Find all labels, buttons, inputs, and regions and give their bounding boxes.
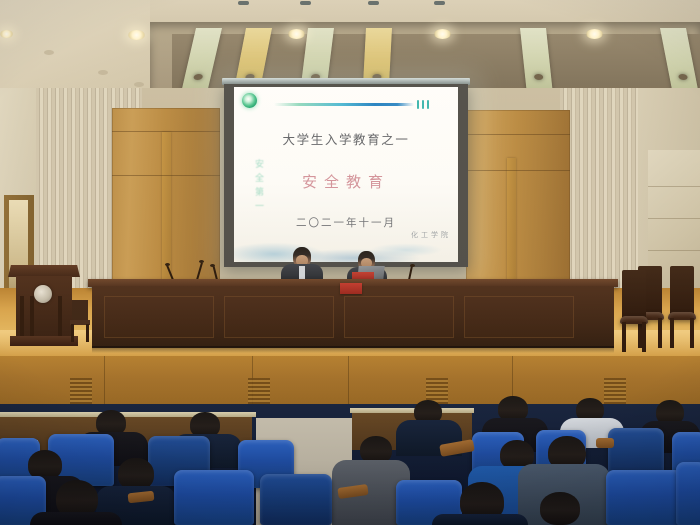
projection-screen: 安全第一 大学生入学教育之一 安全教育 二〇二一年十一月 化工学院 [234, 87, 458, 262]
beam-downlight [678, 74, 688, 80]
wood-wall-panel-right [466, 110, 570, 293]
audience-seat[interactable] [608, 428, 664, 476]
podium-leg [58, 296, 62, 338]
table-front-panel [224, 296, 334, 338]
table-shadow [92, 346, 614, 353]
chair-leg [71, 324, 74, 342]
ceiling-downlight [434, 29, 451, 39]
chair-leg [658, 318, 662, 348]
wood-panel-divider [507, 158, 516, 293]
acoustic-panel-line [648, 218, 700, 219]
ceiling-speaker-grille [44, 50, 54, 55]
audience-seat[interactable] [260, 474, 332, 525]
stage-chair[interactable] [620, 270, 648, 346]
wood-panel-seam [112, 131, 220, 132]
audience-seat[interactable] [174, 470, 254, 525]
screen-rail-clip [238, 1, 249, 5]
wood-panel-seam [112, 175, 220, 176]
screen-rail-clip [300, 1, 311, 5]
slide-accent-rule [274, 103, 414, 106]
podium-base [10, 336, 78, 346]
slide-ink-wash-decoration [234, 220, 458, 262]
wood-panel-seam [466, 134, 570, 135]
person-jacket [432, 514, 528, 525]
ceiling-downlight [0, 30, 13, 38]
audience-seat[interactable] [676, 462, 700, 525]
stage-side-chair[interactable] [70, 300, 90, 342]
microphone-head [210, 264, 215, 267]
podium-leg [30, 296, 34, 338]
slide-footer-mark: 化工学院 [411, 230, 451, 240]
acoustic-panel-line [648, 186, 700, 187]
ceiling-downlight [288, 29, 305, 39]
chair-back [670, 266, 694, 314]
person-head [540, 492, 580, 525]
stage-chair[interactable] [668, 266, 696, 348]
ceiling-speaker-grille [98, 70, 108, 75]
microphone-head [199, 260, 204, 263]
ceiling-soffit [0, 0, 150, 95]
chair-leg [670, 318, 674, 348]
stage-vent-grille [70, 378, 92, 404]
podium-emblem-icon [34, 285, 52, 303]
ceiling-speaker-grille [134, 82, 144, 87]
ribbed-wall-right [560, 88, 638, 293]
chair-leg [690, 318, 694, 348]
auditorium-photo: 安全第一 大学生入学教育之一 安全教育 二〇二一年十一月 化工学院 [0, 0, 700, 525]
stage-vent-grille [248, 378, 270, 404]
chair-leg [86, 324, 89, 342]
stage-vent-grille [604, 378, 626, 404]
microphone-head [410, 264, 415, 267]
slide-subtitle: 大学生入学教育之一 [234, 129, 458, 148]
beam-downlight [534, 74, 544, 80]
chair-leg [622, 322, 626, 352]
slide-logo-icon [242, 93, 257, 108]
chair-leg [642, 322, 646, 352]
ribbed-wall-left [36, 88, 116, 293]
audience-desk-edge [0, 412, 256, 417]
chair-back [72, 300, 88, 322]
screen-rail-clip [368, 1, 379, 5]
seat-armrest [596, 438, 614, 448]
speaker-shirt [299, 266, 305, 280]
audience-seat[interactable] [606, 470, 682, 525]
slide-tick-marks [417, 100, 433, 109]
table-front-panel [104, 296, 214, 338]
ceiling-downlight [128, 30, 145, 40]
wood-panel-seam [466, 170, 570, 171]
chair-back [622, 270, 646, 318]
table-front-panel [344, 296, 454, 338]
slide-title: 安全教育 [234, 171, 458, 192]
screen-rail-clip [434, 1, 445, 5]
nameplate-front [340, 283, 362, 294]
ceiling-downlight [586, 29, 603, 39]
podium-leg [20, 296, 24, 338]
table-front-panel [464, 296, 574, 338]
audience-desk-edge [350, 408, 474, 413]
acoustic-panel-line [648, 250, 700, 251]
person-jacket [30, 512, 122, 525]
microphone-head [165, 263, 170, 266]
